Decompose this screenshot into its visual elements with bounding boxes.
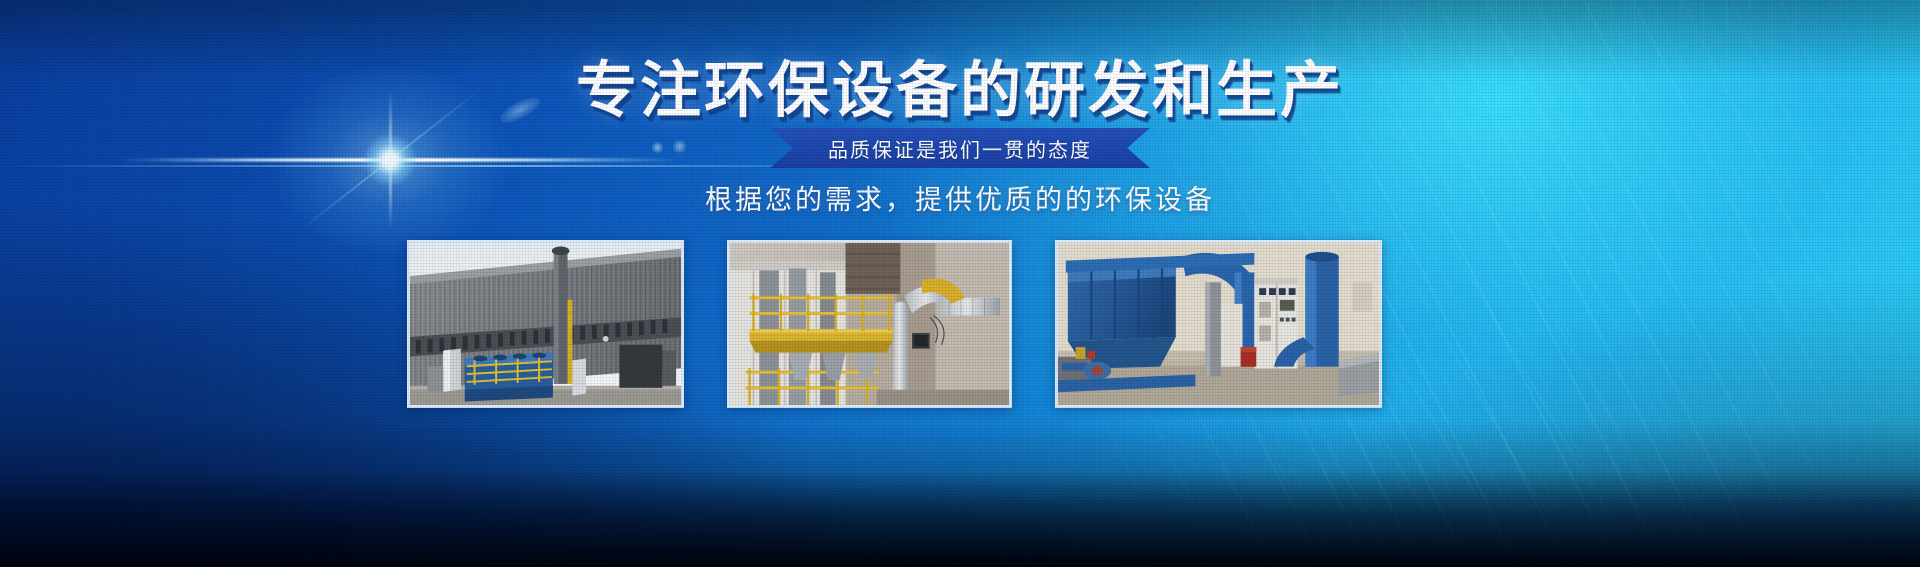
quality-badge: 品质保证是我们一贯的态度	[770, 128, 1150, 168]
photo-thumbnail-3: 厂区内蓝色布袋除尘器及控制柜与管道系统	[1055, 240, 1382, 408]
banner-content: 专注环保设备的研发和生产 品质保证是我们一贯的态度 根据您的需求，提供优质的的环…	[0, 0, 1920, 567]
hero-banner: 专注环保设备的研发和生产 品质保证是我们一贯的态度 根据您的需求，提供优质的的环…	[0, 0, 1920, 567]
dust-collector-yard-image	[1058, 243, 1379, 408]
banner-headline: 专注环保设备的研发和生产	[0, 58, 1920, 124]
banner-tagline: 根据您的需求，提供优质的的环保设备	[0, 178, 1920, 217]
factory-exterior-image	[410, 243, 681, 407]
workshop-platform-image	[730, 243, 1009, 407]
photo-thumbnail-2: 车间内带黄色护栏平台的多级除尘净化机组	[727, 240, 1012, 408]
badge-container: 品质保证是我们一贯的态度	[0, 128, 1920, 168]
photo-thumbnail-1: 工业厂房外的蓝色环保除尘设备与排放烟囱	[407, 240, 684, 408]
quality-badge-label: 品质保证是我们一贯的态度	[828, 134, 1092, 163]
photo-strip: 工业厂房外的蓝色环保除尘设备与排放烟囱	[407, 240, 1500, 408]
